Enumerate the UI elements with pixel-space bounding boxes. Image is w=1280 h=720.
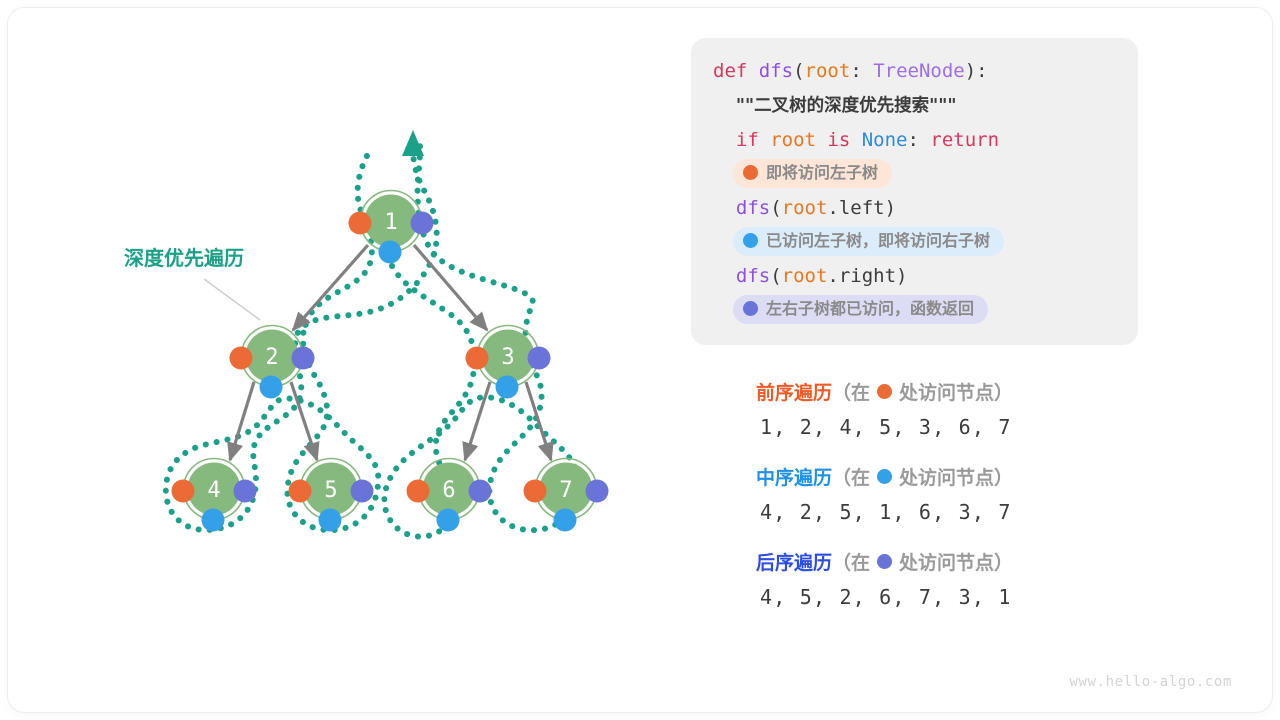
code-block: def dfs(root: TreeNode):""二叉树的深度优先搜索"""i… xyxy=(691,38,1138,345)
code-line-2: if root is None: return xyxy=(713,123,1118,157)
token-var: root xyxy=(805,60,851,82)
code-line-5: 已访问左子树，即将访问右子树 xyxy=(713,225,1118,259)
tree-node-4: 4 xyxy=(172,459,257,532)
note-prefix: （在 xyxy=(832,548,870,575)
node-inorder-dot-icon xyxy=(202,509,225,532)
traversal-heading-2: 后序遍历 （在处访问节点） xyxy=(756,548,1156,575)
node-postorder-dot-icon xyxy=(351,480,374,503)
traversal-list: 前序遍历 （在处访问节点）1, 2, 4, 5, 3, 6, 7中序遍历 （在处… xyxy=(756,378,1156,633)
token-none: None xyxy=(862,129,908,151)
node-preorder-dot-icon xyxy=(349,212,372,235)
token-punc: ( xyxy=(770,197,781,219)
traversal-sequence-1: 4, 2, 5, 1, 6, 3, 7 xyxy=(760,500,1156,524)
traversal-label: 中序遍历 xyxy=(756,463,832,490)
node-inorder-dot-icon xyxy=(437,509,460,532)
node-preorder-dot-icon xyxy=(230,347,253,370)
code-line-4: dfs(root.left) xyxy=(713,191,1118,225)
node-label: 1 xyxy=(384,210,397,235)
token-kw: if xyxy=(736,129,770,151)
code-line-1: ""二叉树的深度优先搜索""" xyxy=(713,88,1118,123)
annotation-text: 左右子树都已访问，函数返回 xyxy=(766,298,974,320)
token-punc: : xyxy=(850,60,873,82)
traversal-sequence-0: 1, 2, 4, 5, 3, 6, 7 xyxy=(760,415,1156,439)
dfs-caption: 深度优先遍历 xyxy=(124,242,244,271)
blue-dot-icon xyxy=(877,469,892,484)
token-kw: is xyxy=(827,129,861,151)
node-inorder-dot-icon xyxy=(319,509,342,532)
token-fn: dfs xyxy=(736,197,770,219)
token-var: root xyxy=(770,129,827,151)
note-prefix: （在 xyxy=(832,378,870,405)
annotation-pill-blue: 已访问左子树，即将访问右子树 xyxy=(733,227,1004,256)
node-label: 6 xyxy=(442,478,455,503)
annotation-text: 即将访问左子树 xyxy=(766,162,878,184)
traversal-heading-0: 前序遍历 （在处访问节点） xyxy=(756,378,1156,405)
tree-node-3: 3 xyxy=(466,326,551,399)
orange-dot-icon xyxy=(877,384,892,399)
traversal-heading-1: 中序遍历 （在处访问节点） xyxy=(756,463,1156,490)
note-suffix: 处访问节点） xyxy=(899,378,1013,405)
traversal-note: （在处访问节点） xyxy=(832,463,1013,490)
node-preorder-dot-icon xyxy=(466,347,489,370)
tree-node-7: 7 xyxy=(524,459,609,532)
code-line-0: def dfs(root: TreeNode): xyxy=(713,54,1118,88)
traversal-note: （在处访问节点） xyxy=(832,378,1013,405)
annotation-text: 已访问左子树，即将访问右子树 xyxy=(766,230,990,252)
token-fn: dfs xyxy=(759,60,793,82)
node-label: 4 xyxy=(207,478,220,503)
violet-dot-icon xyxy=(877,554,892,569)
node-label: 2 xyxy=(265,345,278,370)
token-punc: ( xyxy=(793,60,804,82)
traversal-label: 后序遍历 xyxy=(756,548,832,575)
node-inorder-dot-icon xyxy=(496,376,519,399)
annotation-pill-orange: 即将访问左子树 xyxy=(733,159,892,188)
token-kw: return xyxy=(930,129,999,151)
token-var: root xyxy=(782,265,828,287)
blue-dot-icon xyxy=(743,233,758,248)
token-punc: .left) xyxy=(827,197,896,219)
node-preorder-dot-icon xyxy=(407,480,430,503)
violet-dot-icon xyxy=(743,301,758,316)
node-postorder-dot-icon xyxy=(528,347,551,370)
traversal-label: 前序遍历 xyxy=(756,378,832,405)
node-label: 3 xyxy=(501,345,514,370)
node-preorder-dot-icon xyxy=(172,480,195,503)
caption-leader-line xyxy=(204,279,260,320)
traversal-start-marker xyxy=(402,130,424,156)
node-inorder-dot-icon xyxy=(379,241,402,264)
token-punc: .right) xyxy=(827,265,907,287)
watermark: www.hello-algo.com xyxy=(1069,674,1232,690)
code-line-7: 左右子树都已访问，函数返回 xyxy=(713,293,1118,327)
node-preorder-dot-icon xyxy=(524,480,547,503)
node-postorder-dot-icon xyxy=(411,212,434,235)
token-punc: : xyxy=(908,129,931,151)
traversal-note: （在处访问节点） xyxy=(832,548,1013,575)
annotation-pill-violet: 左右子树都已访问，函数返回 xyxy=(733,295,988,324)
node-postorder-dot-icon xyxy=(469,480,492,503)
tree-node-6: 6 xyxy=(407,459,492,532)
code-line-3: 即将访问左子树 xyxy=(713,157,1118,191)
note-suffix: 处访问节点） xyxy=(899,463,1013,490)
docstring: ""二叉树的深度优先搜索""" xyxy=(736,96,957,116)
node-postorder-dot-icon xyxy=(586,480,609,503)
note-prefix: （在 xyxy=(832,463,870,490)
traversal-sequence-2: 4, 5, 2, 6, 7, 3, 1 xyxy=(760,585,1156,609)
orange-dot-icon xyxy=(743,165,758,180)
code-line-6: dfs(root.right) xyxy=(713,259,1118,293)
token-punc: ): xyxy=(965,60,988,82)
token-var: root xyxy=(782,197,828,219)
binary-tree-diagram: 1234567 xyxy=(8,8,688,712)
token-type: TreeNode xyxy=(873,60,965,82)
token-punc: ( xyxy=(770,265,781,287)
node-inorder-dot-icon xyxy=(260,376,283,399)
node-postorder-dot-icon xyxy=(234,480,257,503)
node-label: 5 xyxy=(324,478,337,503)
node-inorder-dot-icon xyxy=(554,509,577,532)
figure-card: 1234567 深度优先遍历 def dfs(root: TreeNode):"… xyxy=(8,8,1272,712)
note-suffix: 处访问节点） xyxy=(899,548,1013,575)
token-kw: def xyxy=(713,60,759,82)
node-postorder-dot-icon xyxy=(292,347,315,370)
token-fn: dfs xyxy=(736,265,770,287)
node-preorder-dot-icon xyxy=(289,480,312,503)
node-label: 7 xyxy=(559,478,572,503)
